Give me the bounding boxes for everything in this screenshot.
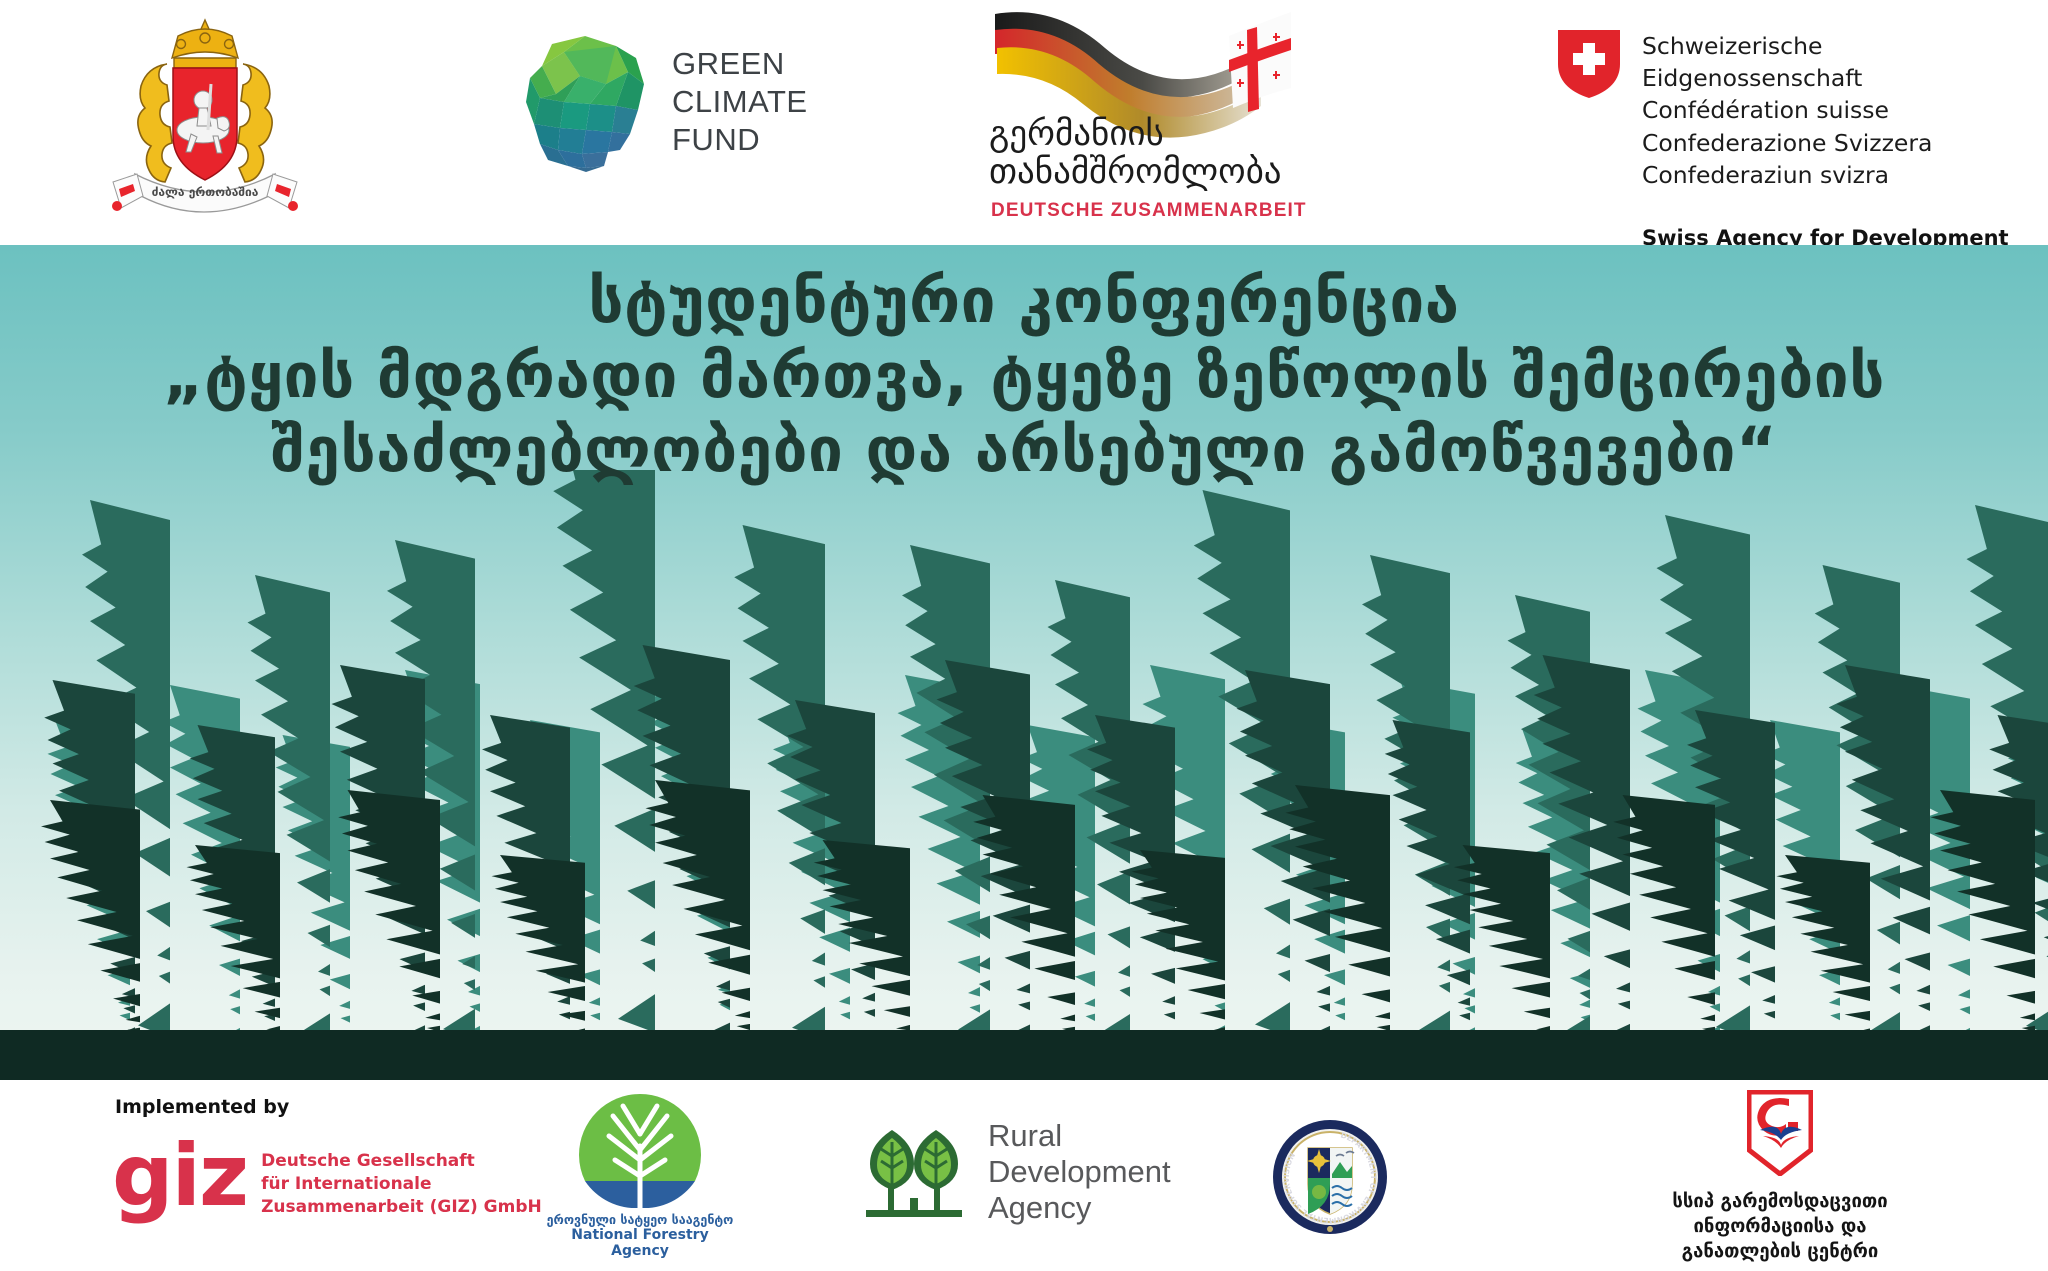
swiss-shield-icon (1558, 30, 1620, 98)
german-cooperation-logo: გერმანიის თანამშრომლობა DEUTSCHE ZUSAMME… (985, 8, 1345, 223)
gcf-line-3: FUND (672, 121, 808, 159)
title-line-3: შესაძლებლობები და არსებული გამოწვევები“ (0, 413, 2048, 487)
conference-title: სტუდენტური კონფერენცია „ტყის მდგრადი მარ… (0, 263, 2048, 487)
title-line-2: „ტყის მდგრადი მართვა, ტყეზე ზეწოლის შემც… (0, 339, 2048, 413)
swiss-name-rm: Confederaziun svizra (1642, 159, 2048, 191)
swiss-name-de: Schweizerische Eidgenossenschaft (1642, 30, 2048, 94)
german-cooperation-georgian-line-2: თანამშრომლობა (989, 154, 1289, 192)
forestry-tree-circle-icon (575, 1090, 705, 1208)
giz-line-2: für Internationale (261, 1173, 542, 1196)
swiss-name-it: Confederazione Svizzera (1642, 127, 2048, 159)
swiss-confederation-logo: Schweizerische Eidgenossenschaft Confédé… (1558, 30, 2048, 280)
rda-wordmark: Rural Development Agency (988, 1118, 1171, 1226)
giz-line-1: Deutsche Gesellschaft (261, 1150, 542, 1173)
gcf-wordmark: GREEN CLIMATE FUND (672, 45, 808, 158)
giz-line-3: Zusammenarbeit (GIZ) GmbH (261, 1196, 542, 1219)
eiec-line-2: ინფორმაციისა და (1620, 1215, 1940, 1240)
environmental-supervision-seal-icon: DEPARTMENT OF ENVIRONMENTAL SUPERVISION (1270, 1118, 1390, 1236)
national-forestry-agency-logo: ეროვნული სატყეო სააგენტო National Forest… (540, 1090, 740, 1259)
environmental-info-education-centre-logo: სსიპ გარემოსდაცვითი ინფორმაციისა და განა… (1620, 1090, 1940, 1264)
green-climate-fund-logo: GREEN CLIMATE FUND (520, 32, 808, 172)
two-trees-house-icon (862, 1124, 966, 1220)
rda-line-1: Rural (988, 1118, 1171, 1154)
rural-development-agency-logo: Rural Development Agency (862, 1118, 1171, 1226)
nfa-georgian: ეროვნული სატყეო სააგენტო (540, 1212, 740, 1227)
giz-wordmark-icon: giz (112, 1140, 247, 1213)
swiss-name-fr: Confédération suisse (1642, 94, 2048, 126)
eiec-open-book-icon (1747, 1090, 1813, 1176)
implemented-by-label: Implemented by (115, 1096, 289, 1118)
gcf-sphere-icon (520, 32, 650, 172)
title-line-1: სტუდენტური კონფერენცია (0, 263, 2048, 339)
eiec-georgian-name: სსიპ გარემოსდაცვითი ინფორმაციისა და განა… (1620, 1190, 1940, 1264)
banner-hero: სტუდენტური კონფერენცია „ტყის მდგრადი მარ… (0, 245, 2048, 1080)
top-donor-logo-bar: ძალა ერთობაშია (0, 0, 2048, 245)
gcf-line-2: CLIMATE (672, 83, 808, 121)
german-cooperation-german-text: DEUTSCHE ZUSAMMENARBEIT (991, 200, 1307, 222)
eiec-line-3: განათლების ცენტრი (1620, 1240, 1940, 1265)
conference-poster: ძალა ერთობაშია (0, 0, 2048, 1271)
rda-line-3: Agency (988, 1190, 1171, 1226)
german-cooperation-georgian-line-1: გერმანიის (989, 116, 1289, 154)
bottom-partner-logo-bar: Implemented by giz Deutsche Gesellschaft… (0, 1080, 2048, 1271)
giz-logo: giz Deutsche Gesellschaft für Internatio… (112, 1140, 542, 1218)
german-cooperation-georgian: გერმანიის თანამშრომლობა (989, 116, 1289, 192)
department-environmental-supervision-logo: DEPARTMENT OF ENVIRONMENTAL SUPERVISION (1270, 1118, 1390, 1236)
rda-line-2: Development (988, 1154, 1171, 1190)
svg-text:ძალა ერთობაშია: ძალა ერთობაშია (152, 185, 259, 199)
nfa-english: National Forestry Agency (540, 1227, 740, 1259)
georgia-coat-of-arms-icon: ძალა ერთობაშია (95, 14, 315, 229)
gcf-line-1: GREEN (672, 45, 808, 83)
eiec-line-1: სსიპ გარემოსდაცვითი (1620, 1190, 1940, 1215)
forest-silhouette-illustration (0, 470, 2048, 1080)
swiss-confederation-names: Schweizerische Eidgenossenschaft Confédé… (1642, 30, 2048, 191)
giz-fullname: Deutsche Gesellschaft für Internationale… (261, 1150, 542, 1218)
